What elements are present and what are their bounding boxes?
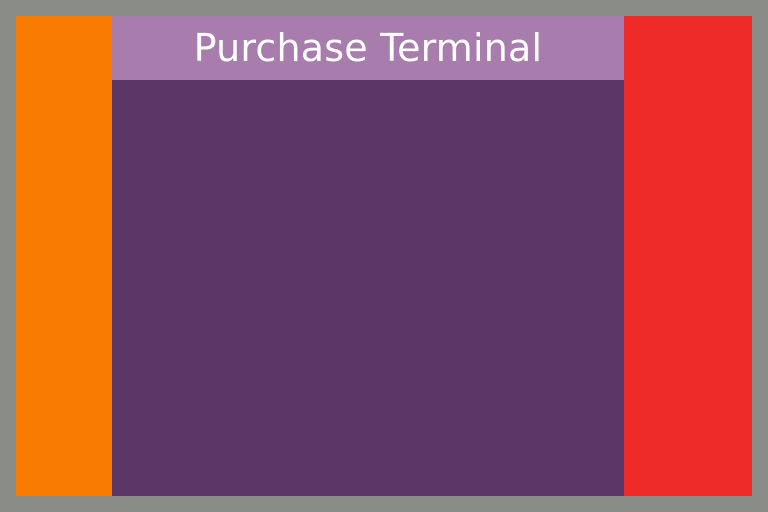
app-root: Purchase Terminal (0, 0, 768, 512)
right-side-panel[interactable] (624, 16, 752, 496)
page-title: Purchase Terminal (194, 29, 543, 67)
terminal-title-bar: Purchase Terminal (112, 16, 624, 80)
terminal-content-area[interactable] (112, 80, 624, 496)
left-side-panel[interactable] (16, 16, 112, 496)
purchase-terminal-window: Purchase Terminal (112, 16, 624, 496)
